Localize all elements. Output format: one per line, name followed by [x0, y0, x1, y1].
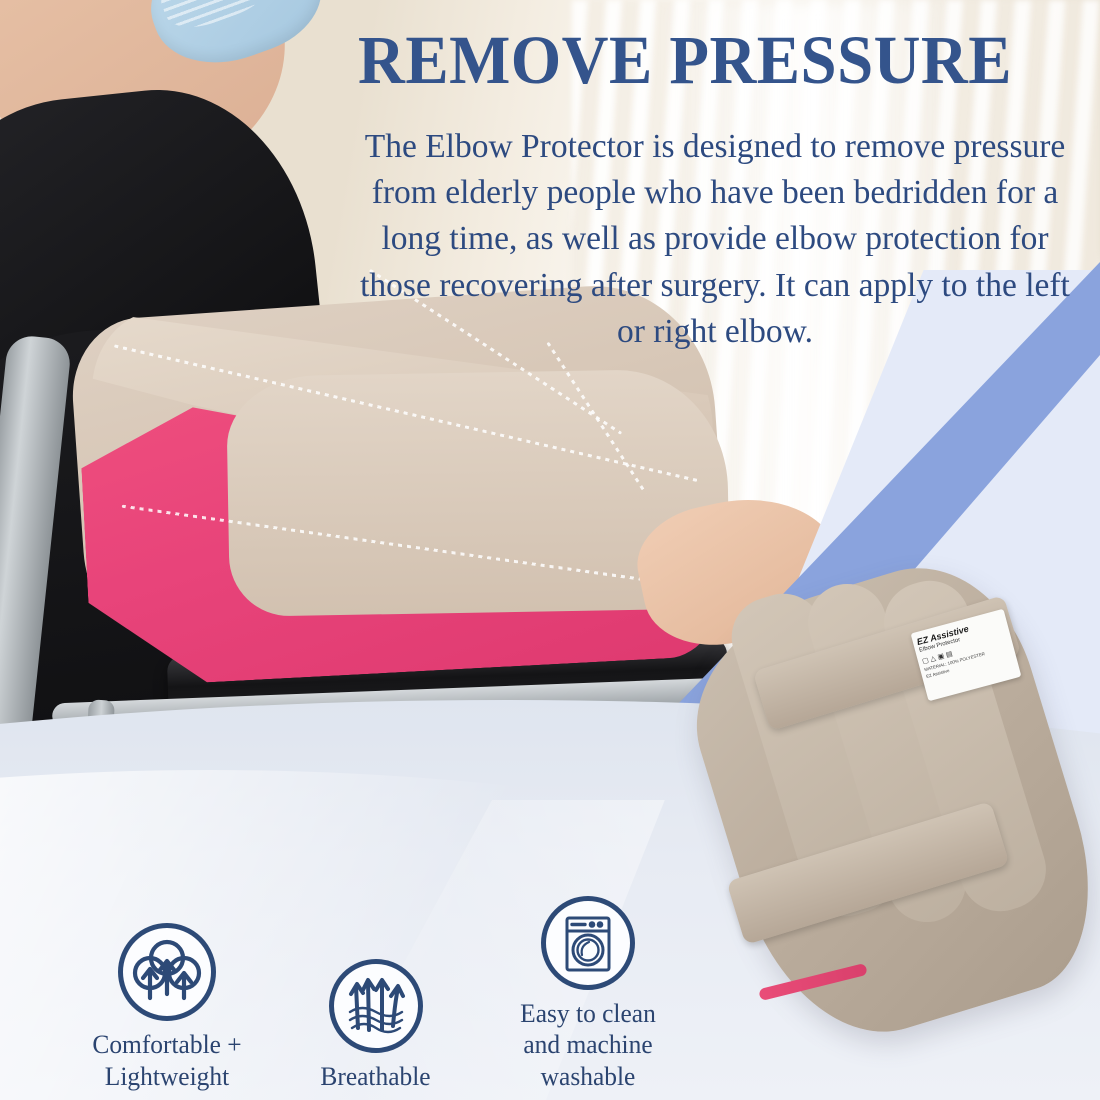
feature-comfortable-lightweight: Comfortable +Lightweight: [42, 923, 292, 1092]
feature-label: Easy to cleanand machinewashable: [473, 998, 703, 1092]
feature-list: Comfortable +Lightweight Breathable: [0, 882, 720, 1092]
product-marketing-poster: REMOVE PRESSURE The Elbow Protector is d…: [0, 0, 1100, 1100]
feature-label: Breathable: [272, 1061, 478, 1092]
care-symbol-dry-icon: ▣: [937, 651, 945, 660]
feature-label: Comfortable +Lightweight: [47, 1029, 287, 1092]
care-symbol-iron-icon: ▤: [945, 649, 953, 658]
feature-breathable: Breathable: [268, 959, 483, 1092]
description-paragraph: The Elbow Protector is designed to remov…: [352, 124, 1078, 355]
feature-machine-washable: Easy to cleanand machinewashable: [468, 896, 708, 1092]
cloud-arrows-up-icon: [118, 923, 216, 1021]
page-title: REMOVE PRESSURE: [314, 26, 1057, 95]
care-symbol-bleach-icon: △: [929, 654, 936, 663]
washing-machine-icon: [541, 896, 635, 990]
product-image: EZ Assistive Elbow Protector ▢ △ ▣ ▤ MAT…: [716, 572, 1092, 1032]
care-symbol-wash-icon: ▢: [921, 655, 929, 664]
airflow-fabric-icon: [329, 959, 423, 1053]
